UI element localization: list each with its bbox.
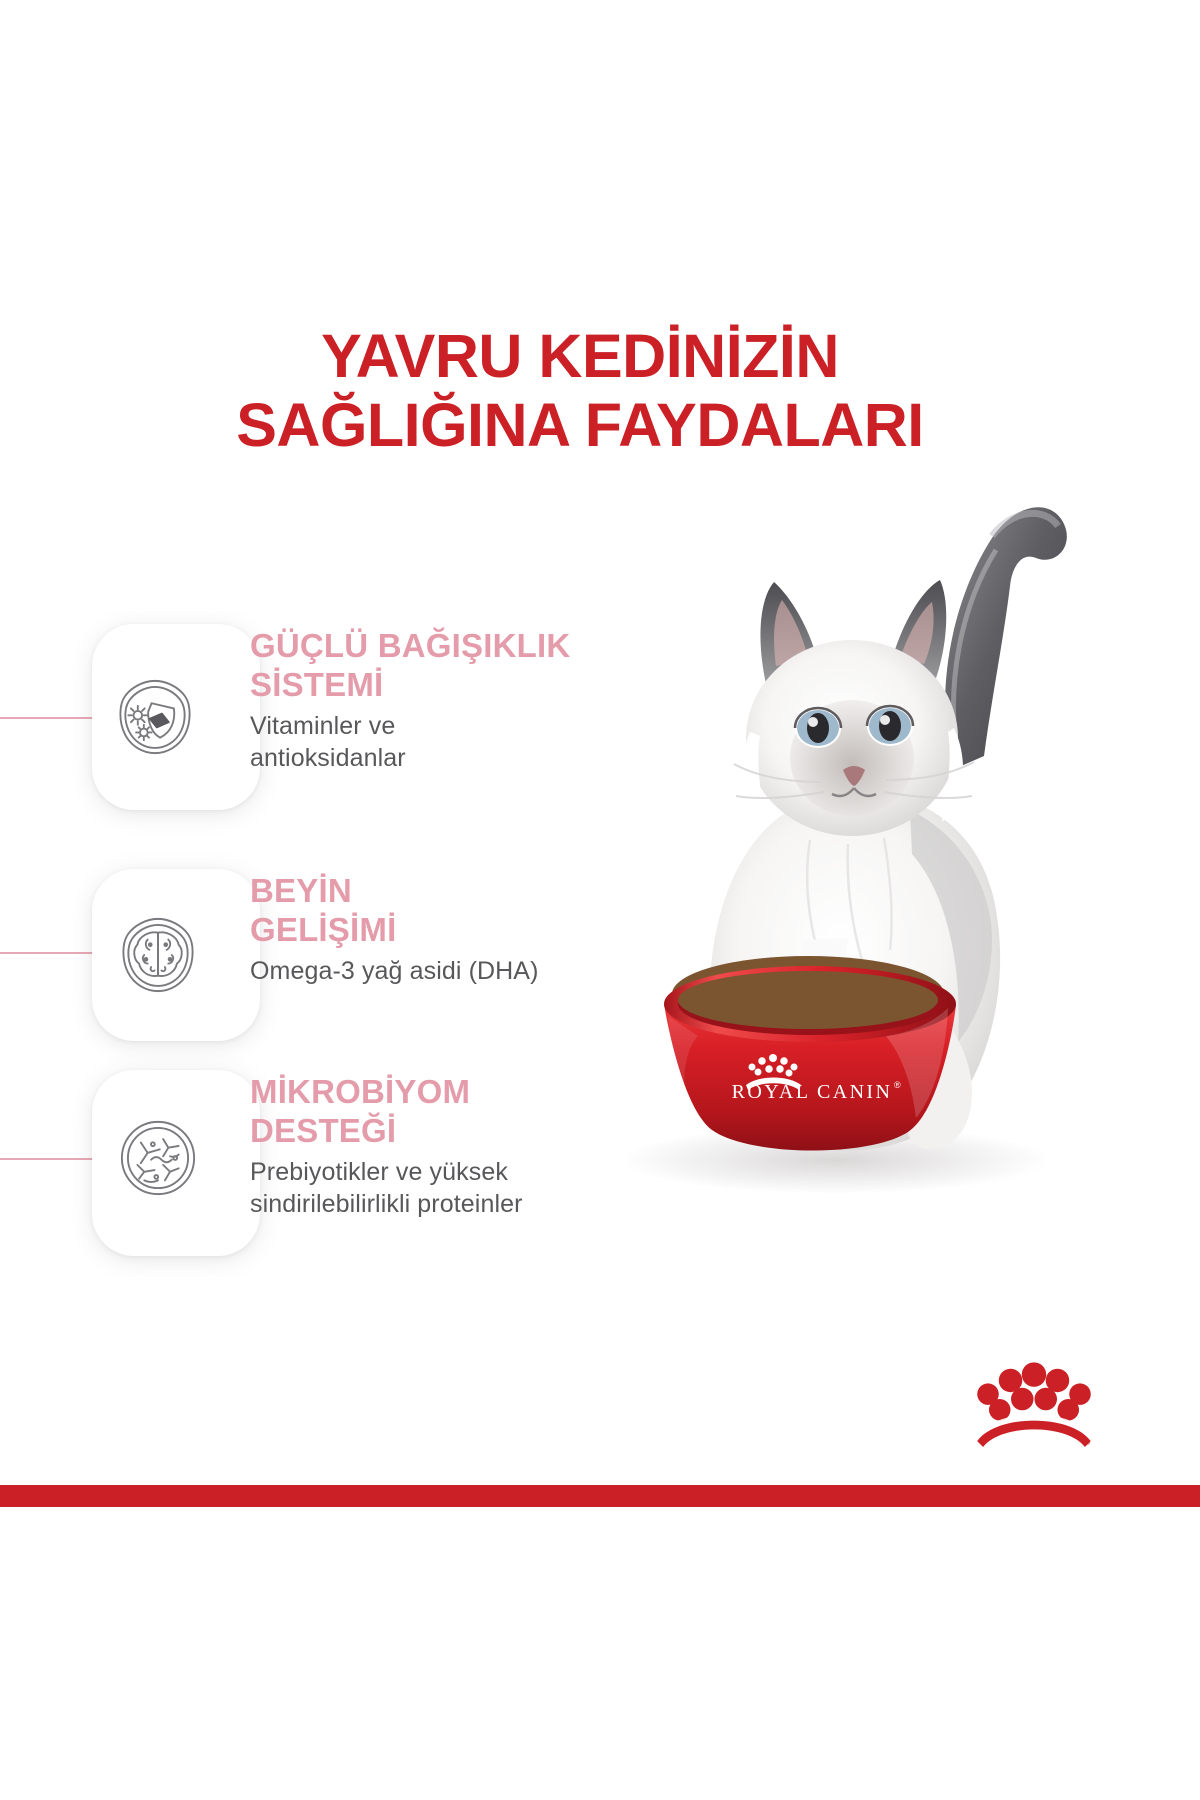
headline-line-2: SAĞLIĞINA FAYDALARI [0, 391, 1160, 460]
connector-line-2 [0, 952, 96, 954]
benefit-body-1-line-1: Vitaminler ve [250, 712, 395, 740]
bottom-accent-bar [0, 1485, 1200, 1507]
benefit-text-1: GÜÇLÜ BAĞIŞIKLIK SİSTEMİ Vitaminler ve a… [250, 627, 590, 774]
product-benefits-poster: YAVRU KEDİNİZİN SAĞLIĞINA FAYDALARI GÜÇL… [0, 0, 1200, 1800]
page-title: YAVRU KEDİNİZİN SAĞLIĞINA FAYDALARI [0, 322, 1200, 460]
svg-text:®: ® [1085, 1439, 1090, 1447]
benefit-body-1: Vitaminler ve antioksidanlar [250, 711, 590, 774]
microbiome-icon [115, 1115, 201, 1201]
benefit-body-3-line-1: Prebiyotikler ve yüksek [250, 1158, 508, 1186]
svg-text:®: ® [894, 1080, 901, 1090]
benefit-title-2: BEYİN GELİŞİMİ [250, 872, 610, 949]
benefit-title-1-line-2: SİSTEMİ [250, 666, 383, 703]
benefit-body-3: Prebiyotikler ve yüksek sindirilebilirli… [250, 1157, 640, 1220]
royal-canin-crown-logo: ® [975, 1355, 1093, 1447]
benefit-title-2-line-1: BEYİN [250, 872, 352, 909]
connector-line-3 [0, 1158, 96, 1160]
benefit-title-3: MİKROBİYOM DESTEĞİ [250, 1073, 640, 1150]
connector-line-1 [0, 717, 96, 719]
headline-line-1: YAVRU KEDİNİZİN [0, 322, 1160, 391]
brain-icon [115, 912, 201, 998]
benefit-title-1: GÜÇLÜ BAĞIŞIKLIK SİSTEMİ [250, 627, 590, 704]
benefit-text-2: BEYİN GELİŞİMİ Omega-3 yağ asidi (DHA) [250, 872, 610, 988]
benefit-body-2-line-1: Omega-3 yağ asidi (DHA) [250, 957, 539, 985]
benefit-body-2: Omega-3 yağ asidi (DHA) [250, 956, 610, 988]
benefit-title-3-line-1: MİKROBİYOM [250, 1073, 470, 1110]
bowl-brand-text: ROYAL CANIN [732, 1081, 893, 1103]
benefit-body-1-line-2: antioksidanlar [250, 744, 406, 772]
benefit-title-1-line-1: GÜÇLÜ BAĞIŞIKLIK [250, 627, 570, 664]
benefit-text-3: MİKROBİYOM DESTEĞİ Prebiyotikler ve yüks… [250, 1073, 640, 1220]
benefit-title-3-line-2: DESTEĞİ [250, 1112, 396, 1149]
benefit-body-3-line-2: sindirilebilirlikli proteinler [250, 1190, 523, 1218]
benefit-title-2-line-2: GELİŞİMİ [250, 911, 396, 948]
immunity-shield-icon [112, 674, 198, 760]
